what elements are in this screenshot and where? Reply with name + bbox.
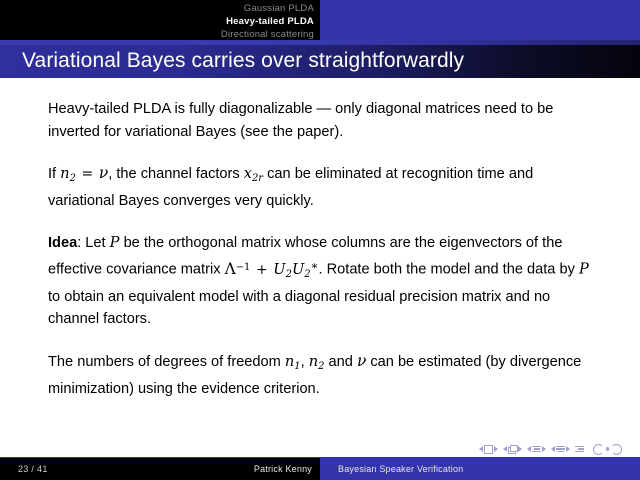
paragraph-channel-factors: If n2 = ν, the channel factors x2r can b… (48, 162, 596, 213)
subsection-icon[interactable] (532, 445, 541, 454)
p4-and: and (329, 354, 353, 370)
header-navigation-bar: Gaussian PLDA Heavy-tailed PLDA Directio… (0, 0, 640, 44)
beamer-navigation-symbols[interactable] (479, 442, 625, 456)
section-icon[interactable] (556, 445, 565, 454)
p3-part1: : Let (77, 235, 105, 251)
slide-nav-group[interactable] (479, 445, 498, 454)
math-condition-n2-nu: n2 = ν (60, 165, 108, 182)
p3-part4: to obtain an equivalent model with a dia… (48, 289, 550, 328)
appendix-icon[interactable] (575, 445, 584, 454)
section-nav-list: Gaussian PLDA Heavy-tailed PLDA Directio… (0, 2, 318, 41)
header-accent-panel (320, 0, 640, 44)
paragraph-diagonalizable: Heavy-tailed PLDA is fully diagonalizabl… (48, 98, 596, 143)
previous-section-icon[interactable] (551, 446, 555, 452)
p2-mid: , the channel factors (108, 166, 239, 182)
footer-bar: 23 / 41 Patrick Kenny Bayesian Speaker V… (0, 458, 640, 480)
slide-content: Heavy-tailed PLDA is fully diagonalizabl… (48, 98, 596, 401)
search-dot-icon[interactable] (606, 447, 610, 451)
back-arrow-icon[interactable] (593, 444, 604, 455)
subsection-nav-group[interactable] (527, 445, 546, 454)
math-n2: n2 (309, 353, 325, 370)
forward-arrow-icon[interactable] (611, 444, 622, 455)
page-number: 23 / 41 (18, 464, 48, 474)
section-nav-group[interactable] (551, 445, 570, 454)
math-P-first: P (110, 234, 120, 251)
slide-title: Variational Bayes carries over straightf… (22, 48, 464, 74)
next-frame-icon[interactable] (518, 446, 522, 452)
nav-item-gaussian-plda[interactable]: Gaussian PLDA (0, 2, 314, 15)
previous-frame-icon[interactable] (503, 446, 507, 452)
p4-lead: The numbers of degrees of freedom (48, 354, 281, 370)
footer-left-panel: 23 / 41 Patrick Kenny (0, 458, 320, 480)
p2-lead: If (48, 166, 56, 182)
math-n1: n1 (285, 353, 301, 370)
math-P-second: P (579, 261, 589, 278)
frame-nav-group[interactable] (503, 445, 522, 454)
author-name: Patrick Kenny (254, 464, 312, 474)
next-section-icon[interactable] (566, 446, 570, 452)
previous-subsection-icon[interactable] (527, 446, 531, 452)
math-covariance-expression: Λ−1 + U2U2∗ (225, 261, 319, 278)
next-subsection-icon[interactable] (542, 446, 546, 452)
math-x2r: x2r (244, 165, 263, 182)
previous-slide-icon[interactable] (479, 446, 483, 452)
p4-comma: , (301, 354, 305, 370)
idea-label: Idea (48, 235, 77, 251)
nav-item-heavy-tailed-plda[interactable]: Heavy-tailed PLDA (0, 15, 314, 28)
next-slide-icon[interactable] (494, 446, 498, 452)
p3-part3: . Rotate both the model and the data by (319, 262, 575, 278)
frame-icon[interactable] (508, 445, 517, 454)
presentation-title: Bayesian Speaker Verification (338, 464, 463, 474)
footer-right-panel: Bayesian Speaker Verification (320, 458, 640, 480)
paragraph-idea: Idea: Let P be the orthogonal matrix who… (48, 232, 596, 331)
math-nu: ν (357, 352, 366, 370)
slide-icon[interactable] (484, 445, 493, 454)
paragraph-degrees-of-freedom: The numbers of degrees of freedom n1, n2… (48, 350, 596, 401)
